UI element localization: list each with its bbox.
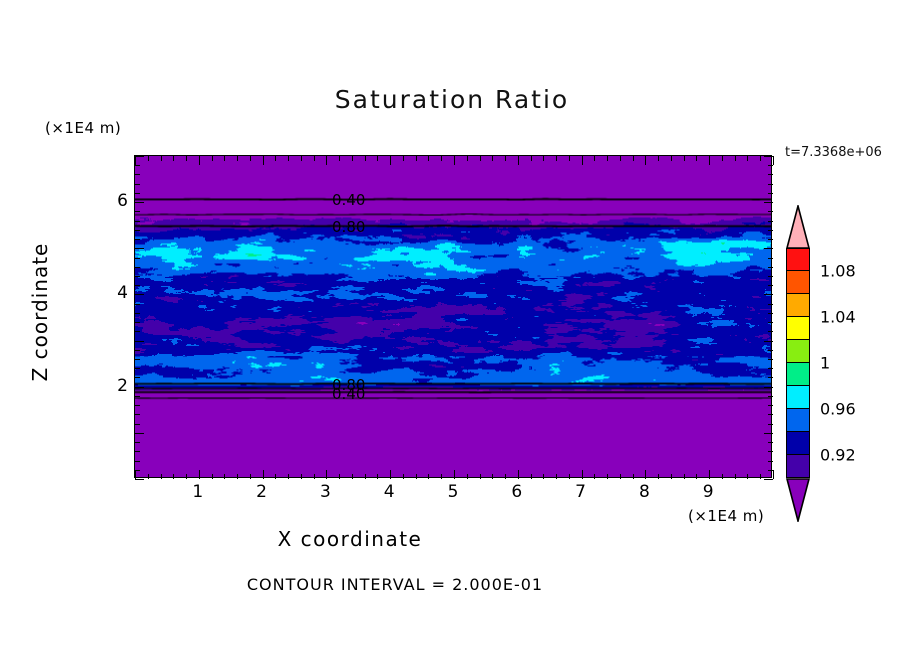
y-axis-tick-labels: 246 — [100, 155, 128, 478]
axis-tick — [658, 156, 659, 161]
axis-tick — [148, 474, 149, 479]
axis-tick — [135, 396, 140, 397]
axis-tick — [135, 184, 140, 185]
colorbar-tick-labels: 1.081.0410.960.92 — [816, 205, 886, 520]
axis-tick — [543, 474, 544, 479]
axis-tick — [135, 165, 140, 166]
axis-tick — [480, 156, 481, 161]
colorbar-label: 1.08 — [820, 262, 856, 281]
axis-tick — [768, 350, 773, 351]
axis-tick — [768, 405, 773, 406]
axis-tick — [768, 304, 773, 305]
y-tick-label: 6 — [117, 191, 128, 211]
axis-tick — [531, 156, 532, 161]
axis-tick — [135, 470, 140, 471]
axis-tick — [135, 350, 140, 351]
y-tick-label: 4 — [117, 283, 128, 303]
colorbar-band — [786, 248, 810, 271]
axis-tick — [709, 156, 710, 165]
axis-tick — [428, 474, 429, 479]
axis-tick — [428, 156, 429, 161]
axis-tick — [403, 156, 404, 161]
axis-tick — [135, 424, 140, 425]
axis-tick — [135, 331, 140, 332]
axis-tick — [212, 474, 213, 479]
axis-tick — [768, 267, 773, 268]
axis-tick — [607, 474, 608, 479]
axis-tick — [768, 470, 773, 471]
axis-tick — [237, 474, 238, 479]
colorbar-bottom-arrow-icon — [786, 478, 810, 522]
axis-tick — [492, 156, 493, 161]
axis-tick — [454, 470, 455, 479]
axis-tick — [199, 156, 200, 165]
colorbar-band — [786, 294, 810, 317]
axis-tick — [275, 474, 276, 479]
axis-tick — [556, 156, 557, 161]
contour-field-canvas — [135, 156, 771, 477]
axis-tick — [135, 156, 144, 157]
axis-tick — [135, 368, 140, 369]
axis-tick — [263, 156, 264, 165]
x-axis-units-label: (×1E4 m) — [688, 507, 764, 525]
axis-tick — [135, 211, 140, 212]
axis-tick — [764, 433, 773, 434]
axis-tick — [768, 276, 773, 277]
axis-tick — [161, 156, 162, 161]
axis-tick — [135, 322, 140, 323]
axis-tick — [135, 248, 144, 249]
axis-tick — [288, 474, 289, 479]
axis-tick — [467, 474, 468, 479]
axis-tick — [582, 470, 583, 479]
axis-tick — [403, 474, 404, 479]
axis-tick — [582, 156, 583, 165]
colorbar-label: 1 — [820, 354, 830, 373]
x-tick-label: 9 — [703, 482, 714, 502]
axis-tick — [768, 258, 773, 259]
axis-tick — [569, 474, 570, 479]
axis-tick — [135, 387, 144, 388]
axis-tick — [684, 156, 685, 161]
axis-tick — [505, 156, 506, 161]
axis-tick — [173, 474, 174, 479]
axis-tick — [696, 156, 697, 161]
axis-tick — [250, 156, 251, 161]
axis-tick — [747, 156, 748, 161]
axis-tick — [250, 474, 251, 479]
axis-tick — [768, 377, 773, 378]
colorbar-band — [786, 409, 810, 432]
axis-tick — [760, 156, 761, 161]
axis-tick — [768, 230, 773, 231]
axis-tick — [768, 184, 773, 185]
axis-tick — [633, 156, 634, 161]
axis-tick — [594, 156, 595, 161]
axis-tick — [764, 156, 773, 157]
axis-tick — [768, 424, 773, 425]
axis-tick — [768, 322, 773, 323]
axis-tick — [671, 156, 672, 161]
axis-tick — [518, 470, 519, 479]
axis-tick — [467, 156, 468, 161]
x-tick-label: 5 — [448, 482, 459, 502]
contour-line-label: 0.40 — [332, 385, 365, 403]
axis-tick — [314, 156, 315, 161]
axis-tick — [492, 474, 493, 479]
axis-tick — [531, 474, 532, 479]
axis-tick — [135, 341, 144, 342]
axis-tick — [764, 248, 773, 249]
axis-tick — [416, 156, 417, 161]
axis-tick — [326, 156, 327, 165]
axis-tick — [224, 156, 225, 161]
axis-tick — [747, 474, 748, 479]
contour-line-label: 0.80 — [332, 218, 365, 236]
axis-tick — [365, 474, 366, 479]
axis-tick — [722, 156, 723, 161]
x-tick-label: 2 — [256, 482, 267, 502]
axis-tick — [390, 156, 391, 165]
colorbar-label: 0.92 — [820, 446, 856, 465]
y-axis-title: Z coordinate — [28, 212, 52, 412]
page-title: Saturation Ratio — [0, 85, 904, 114]
axis-tick — [768, 368, 773, 369]
contour-plot-area: 0.400.800.800.40 — [134, 155, 772, 478]
axis-tick — [735, 474, 736, 479]
axis-tick — [339, 156, 340, 161]
axis-tick — [764, 479, 773, 480]
axis-tick — [135, 313, 140, 314]
axis-tick — [135, 359, 140, 360]
axis-tick — [658, 474, 659, 479]
colorbar-top-arrow-icon — [786, 205, 810, 249]
axis-tick — [633, 474, 634, 479]
colorbar-band — [786, 340, 810, 363]
axis-tick — [768, 359, 773, 360]
axis-tick — [199, 470, 200, 479]
x-tick-label: 4 — [384, 482, 395, 502]
axis-tick — [684, 474, 685, 479]
axis-tick — [480, 474, 481, 479]
axis-tick — [135, 174, 140, 175]
axis-tick — [768, 313, 773, 314]
axis-tick — [764, 294, 773, 295]
colorbar-band — [786, 317, 810, 340]
colorbar-band — [786, 432, 810, 455]
time-annotation: t=7.3368e+06 — [785, 145, 882, 160]
contour-line-label: 0.40 — [332, 191, 365, 209]
axis-tick — [352, 156, 353, 161]
axis-tick — [645, 470, 646, 479]
axis-tick — [135, 258, 140, 259]
axis-tick — [709, 470, 710, 479]
axis-tick — [288, 156, 289, 161]
axis-tick — [390, 470, 391, 479]
axis-tick — [569, 156, 570, 161]
axis-tick — [454, 156, 455, 165]
axis-tick — [620, 474, 621, 479]
axis-tick — [768, 211, 773, 212]
axis-tick — [773, 470, 774, 479]
colorbar-band — [786, 363, 810, 386]
axis-tick — [263, 470, 264, 479]
colorbar-band — [786, 386, 810, 409]
axis-tick — [764, 387, 773, 388]
axis-tick — [764, 202, 773, 203]
axis-tick — [135, 267, 140, 268]
axis-tick — [645, 156, 646, 165]
colorbar-label: 1.04 — [820, 308, 856, 327]
axis-tick — [161, 474, 162, 479]
axis-tick — [768, 193, 773, 194]
axis-tick — [212, 156, 213, 161]
y-axis-units-label: (×1E4 m) — [45, 119, 121, 137]
axis-tick — [416, 474, 417, 479]
colorbar-band — [786, 271, 810, 294]
axis-tick — [135, 193, 140, 194]
axis-tick — [377, 156, 378, 161]
axis-tick — [326, 470, 327, 479]
axis-tick — [135, 285, 140, 286]
axis-tick — [135, 221, 140, 222]
axis-tick — [441, 474, 442, 479]
axis-tick — [768, 239, 773, 240]
axis-tick — [186, 474, 187, 479]
axis-tick — [768, 174, 773, 175]
axis-tick — [135, 470, 136, 479]
axis-tick — [135, 433, 144, 434]
axis-tick — [135, 461, 140, 462]
axis-tick — [301, 474, 302, 479]
axis-tick — [186, 156, 187, 161]
axis-tick — [314, 474, 315, 479]
x-tick-label: 3 — [320, 482, 331, 502]
axis-tick — [768, 451, 773, 452]
axis-tick — [301, 156, 302, 161]
axis-tick — [768, 442, 773, 443]
axis-tick — [365, 156, 366, 161]
x-tick-label: 7 — [575, 482, 586, 502]
axis-tick — [135, 377, 140, 378]
axis-tick — [764, 341, 773, 342]
axis-tick — [620, 156, 621, 161]
axis-tick — [352, 474, 353, 479]
axis-tick — [377, 474, 378, 479]
axis-tick — [768, 461, 773, 462]
axis-tick — [543, 156, 544, 161]
axis-tick — [607, 156, 608, 161]
colorbar: 1.081.0410.960.92 — [782, 205, 822, 520]
axis-tick — [696, 474, 697, 479]
axis-tick — [768, 414, 773, 415]
axis-tick — [768, 331, 773, 332]
axis-tick — [768, 285, 773, 286]
axis-tick — [505, 474, 506, 479]
x-tick-label: 6 — [511, 482, 522, 502]
axis-tick — [760, 474, 761, 479]
axis-tick — [148, 156, 149, 161]
colorbar-bands — [786, 248, 810, 478]
axis-tick — [224, 474, 225, 479]
axis-tick — [237, 156, 238, 161]
axis-tick — [768, 165, 773, 166]
x-axis-tick-labels: 123456789 — [134, 482, 772, 504]
axis-tick — [135, 479, 144, 480]
axis-tick — [671, 474, 672, 479]
x-tick-label: 8 — [639, 482, 650, 502]
axis-tick — [594, 474, 595, 479]
axis-tick — [135, 276, 140, 277]
axis-tick — [135, 304, 140, 305]
axis-tick — [173, 156, 174, 161]
axis-tick — [722, 474, 723, 479]
axis-tick — [518, 156, 519, 165]
axis-tick — [135, 414, 140, 415]
contour-interval-note: CONTOUR INTERVAL = 2.000E-01 — [0, 575, 790, 594]
axis-tick — [135, 451, 140, 452]
axis-tick — [556, 474, 557, 479]
axis-tick — [135, 294, 144, 295]
axis-tick — [339, 474, 340, 479]
colorbar-band — [786, 455, 810, 478]
axis-tick — [135, 202, 144, 203]
axis-tick — [135, 230, 140, 231]
axis-tick — [135, 239, 140, 240]
axis-tick — [768, 396, 773, 397]
y-tick-label: 2 — [117, 376, 128, 396]
axis-tick — [735, 156, 736, 161]
axis-tick — [135, 405, 140, 406]
axis-tick — [768, 221, 773, 222]
axis-tick — [773, 156, 774, 165]
colorbar-label: 0.96 — [820, 400, 856, 419]
x-tick-label: 1 — [192, 482, 203, 502]
x-axis-title: X coordinate — [0, 527, 700, 551]
axis-tick — [275, 156, 276, 161]
axis-tick — [135, 442, 140, 443]
axis-tick — [441, 156, 442, 161]
axis-tick — [135, 156, 136, 165]
